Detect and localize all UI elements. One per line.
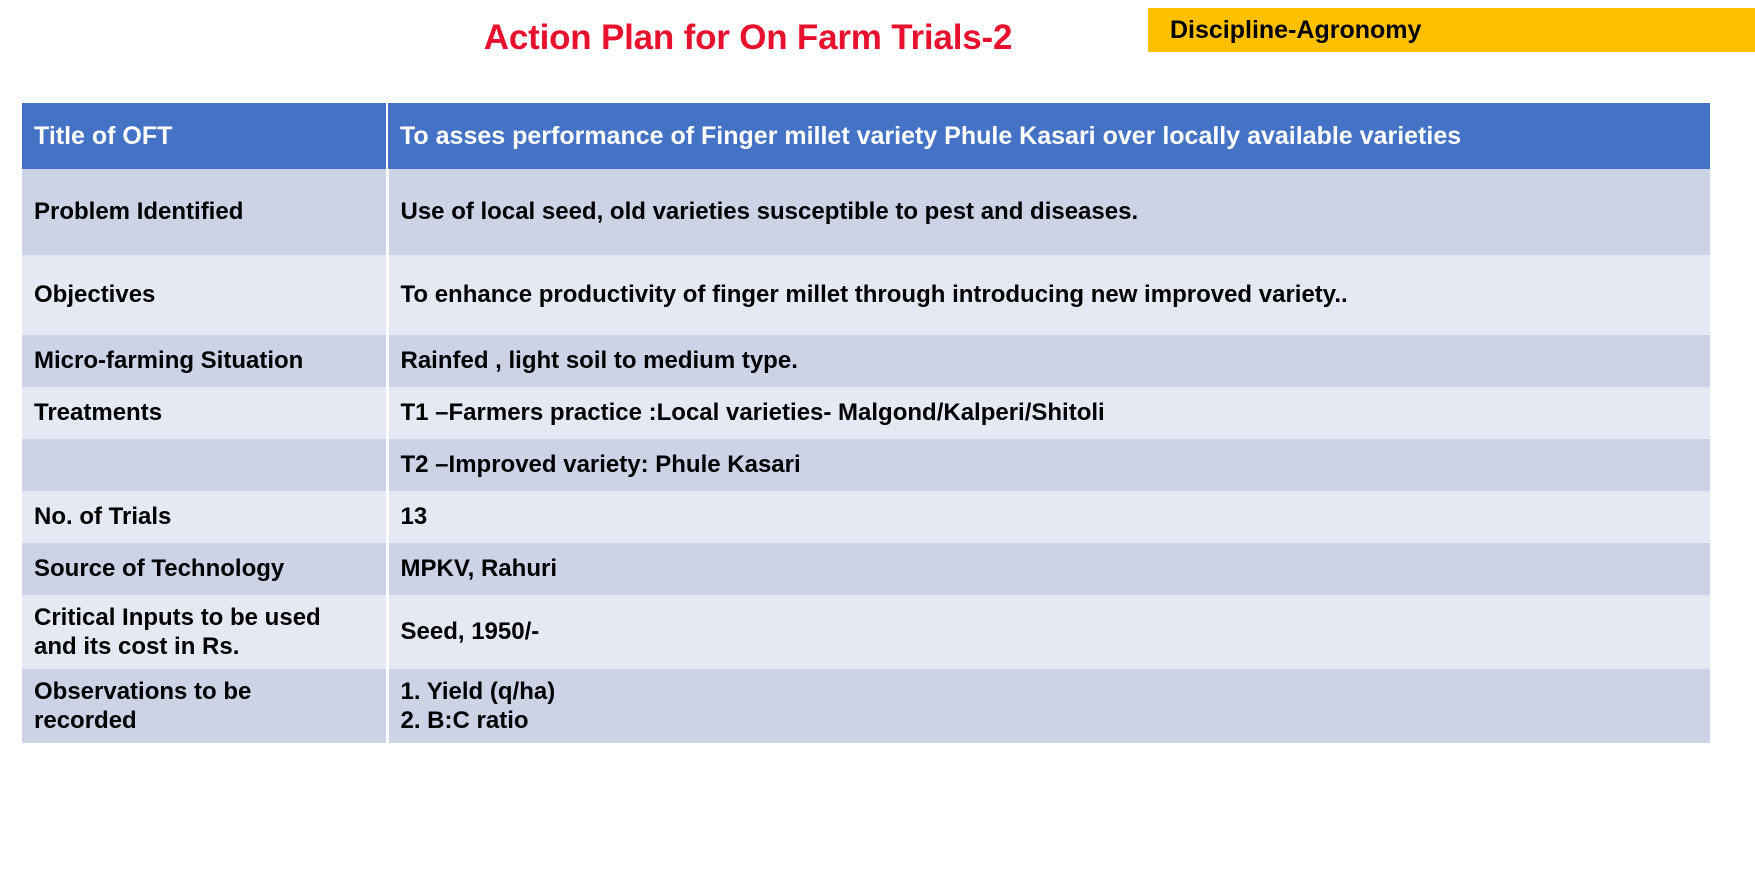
- row-value-micro-farming-situation: Rainfed , light soil to medium type.: [387, 335, 1710, 387]
- table-header-row: Title of OFT To asses performance of Fin…: [22, 103, 1710, 169]
- row-label-treatments-continued: [22, 439, 387, 491]
- row-label-observations-line2: recorded: [34, 706, 386, 735]
- table-row: T2 –Improved variety: Phule Kasari: [22, 439, 1710, 491]
- action-plan-table: Title of OFT To asses performance of Fin…: [22, 103, 1710, 743]
- row-value-no-of-trials: 13: [387, 491, 1710, 543]
- row-value-observations: 1. Yield (q/ha) 2. B:C ratio: [387, 669, 1710, 743]
- table-row: Objectives To enhance productivity of fi…: [22, 255, 1710, 335]
- header-label-title-of-oft: Title of OFT: [22, 103, 387, 169]
- row-label-objectives: Objectives: [22, 255, 387, 335]
- row-value-critical-inputs: Seed, 1950/-: [387, 595, 1710, 669]
- row-value-observations-line1: 1. Yield (q/ha): [401, 677, 1711, 706]
- slide-header: Action Plan for On Farm Trials-2 Discipl…: [0, 0, 1755, 88]
- row-value-source-of-technology: MPKV, Rahuri: [387, 543, 1710, 595]
- row-label-critical-inputs-line1: Critical Inputs to be used: [34, 603, 386, 632]
- row-label-source-of-technology: Source of Technology: [22, 543, 387, 595]
- discipline-badge: Discipline-Agronomy: [1148, 8, 1755, 52]
- table-row: Treatments T1 –Farmers practice :Local v…: [22, 387, 1710, 439]
- row-value-problem-identified: Use of local seed, old varieties suscept…: [387, 169, 1710, 255]
- table-row: No. of Trials 13: [22, 491, 1710, 543]
- row-label-problem-identified: Problem Identified: [22, 169, 387, 255]
- table-row: Observations to be recorded 1. Yield (q/…: [22, 669, 1710, 743]
- row-value-objectives: To enhance productivity of finger millet…: [387, 255, 1710, 335]
- row-label-observations-line1: Observations to be: [34, 677, 386, 706]
- row-value-treatment-t2: T2 –Improved variety: Phule Kasari: [387, 439, 1710, 491]
- row-label-micro-farming-situation: Micro-farming Situation: [22, 335, 387, 387]
- row-value-treatment-t1: T1 –Farmers practice :Local varieties- M…: [387, 387, 1710, 439]
- table-row: Source of Technology MPKV, Rahuri: [22, 543, 1710, 595]
- table-row: Problem Identified Use of local seed, ol…: [22, 169, 1710, 255]
- row-label-treatments: Treatments: [22, 387, 387, 439]
- row-label-no-of-trials: No. of Trials: [22, 491, 387, 543]
- table-row: Micro-farming Situation Rainfed , light …: [22, 335, 1710, 387]
- table-row: Critical Inputs to be used and its cost …: [22, 595, 1710, 669]
- row-value-observations-line2: 2. B:C ratio: [401, 706, 1711, 735]
- row-label-critical-inputs: Critical Inputs to be used and its cost …: [22, 595, 387, 669]
- header-value-title-of-oft: To asses performance of Finger millet va…: [387, 103, 1710, 169]
- row-label-observations: Observations to be recorded: [22, 669, 387, 743]
- row-label-critical-inputs-line2: and its cost in Rs.: [34, 632, 386, 661]
